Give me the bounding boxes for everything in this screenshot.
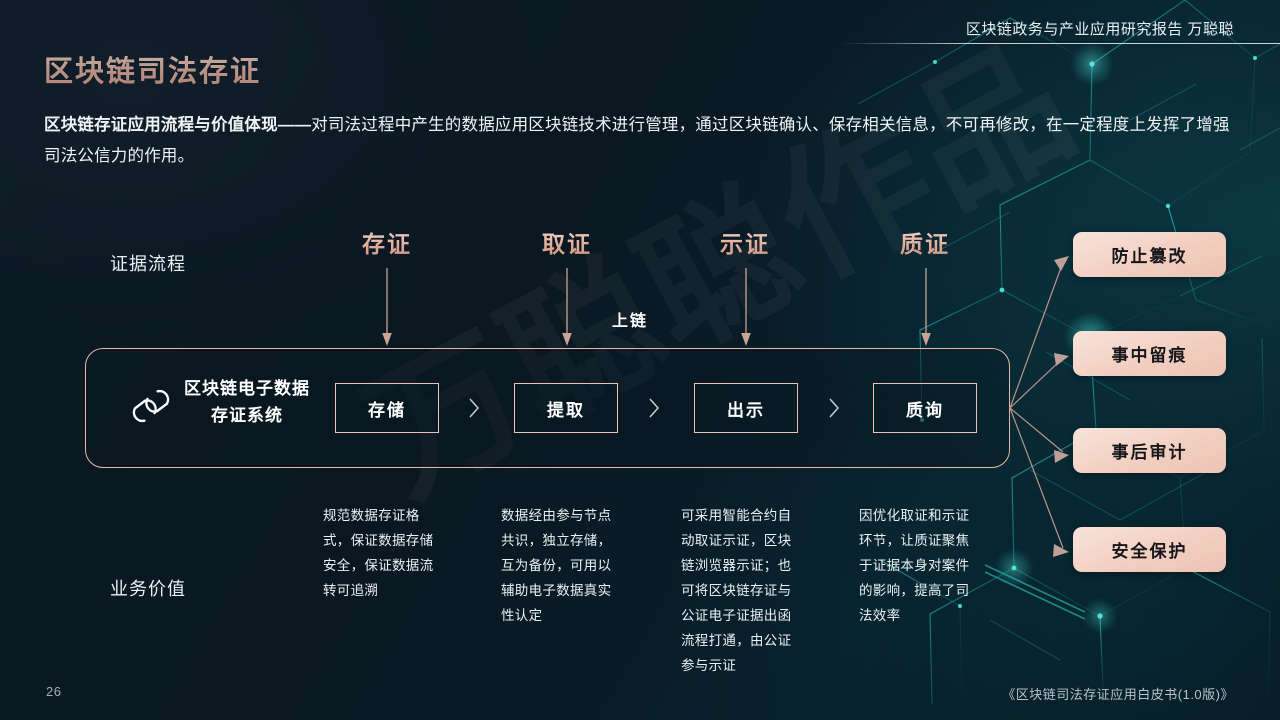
stage-description-2: 可采用智能合约自动取证示证，区块链浏览器示证；也可将区块链存证与公证电子证据出函… <box>681 503 799 678</box>
value-pill-0[interactable]: 防止篡改 <box>1073 232 1226 277</box>
footer-source-citation: 《区块链司法存证应用白皮书(1.0版)》 <box>1002 684 1234 703</box>
value-pill-1[interactable]: 事中留痕 <box>1073 331 1226 376</box>
stage-description-1: 数据经由参与节点共识，独立存储，互为备份，可用以辅助电子数据真实性认定 <box>501 503 619 628</box>
page-number: 26 <box>46 684 61 699</box>
value-pill-3[interactable]: 安全保护 <box>1073 527 1226 572</box>
stage-description-0: 规范数据存证格式，保证数据存储安全，保证数据流转可追溯 <box>323 503 441 603</box>
value-pill-2[interactable]: 事后审计 <box>1073 428 1226 473</box>
stage-description-3: 因优化取证和示证环节，让质证聚焦于证据本身对案件的影响，提高了司法效率 <box>859 503 977 628</box>
